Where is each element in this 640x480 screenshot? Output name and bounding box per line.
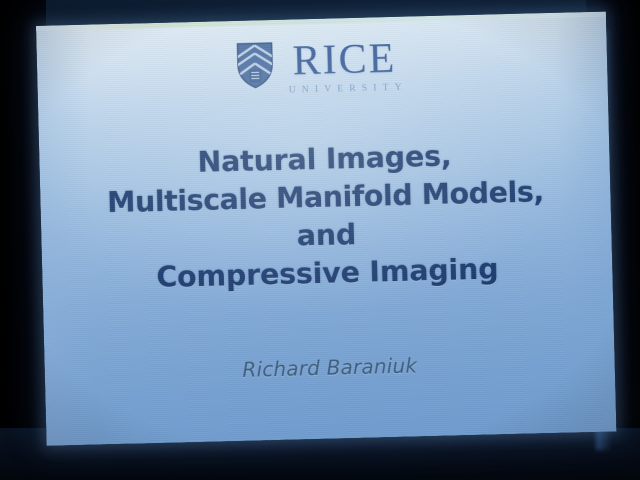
rice-wordmark-block: RICE UNIVERSITY [281,40,407,96]
rice-university-logo: RICE UNIVERSITY [37,34,608,102]
projection-screen: RICE UNIVERSITY Natural Images, Multisca… [36,12,616,446]
presenter-name: Richard Baraniuk [45,348,615,386]
slide-content: RICE UNIVERSITY Natural Images, Multisca… [36,12,616,446]
video-frame: RICE UNIVERSITY Natural Images, Multisca… [0,0,640,480]
slide-title: Natural Images, Multiscale Manifold Mode… [39,134,613,300]
rice-shield-icon [236,42,273,89]
university-wordmark: UNIVERSITY [282,83,407,96]
presentation-slide: RICE UNIVERSITY Natural Images, Multisca… [36,12,616,446]
rice-wordmark: RICE [292,40,397,83]
